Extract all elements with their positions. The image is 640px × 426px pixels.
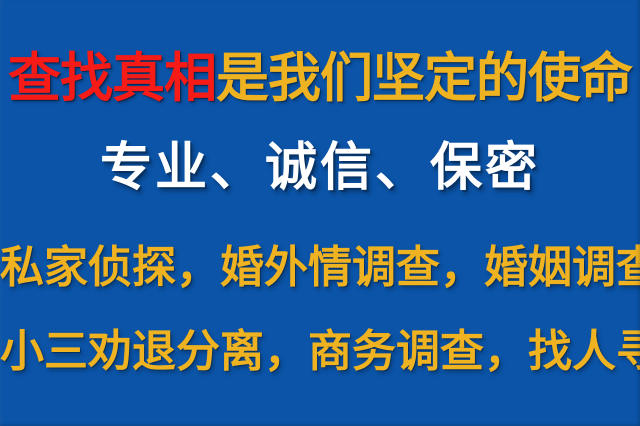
headline-highlight-text: 查找真相 <box>8 48 216 109</box>
slogan-text: 专业、诚信、保密 <box>0 142 640 194</box>
advertisement-banner: 查找真相是我们坚定的使命 专业、诚信、保密 私家侦探，婚外情调查，婚姻调查， 小… <box>0 0 640 426</box>
services-line-2: 小三劝退分离，商务调查，找人寻人 <box>0 330 640 374</box>
headline: 查找真相是我们坚定的使命 <box>0 52 640 105</box>
services-line-1: 私家侦探，婚外情调查，婚姻调查， <box>0 246 640 290</box>
headline-rest-text: 是我们坚定的使命 <box>216 48 632 109</box>
